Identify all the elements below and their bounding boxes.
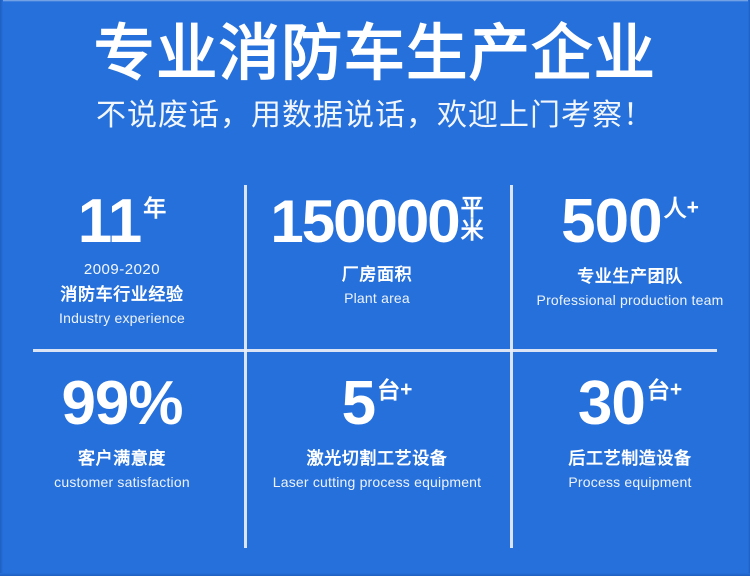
stat-unit-char-2: 米	[461, 219, 484, 242]
page-subtitle: 不说废话，用数据说话，欢迎上门考察！	[0, 99, 750, 134]
stat-unit: 台 +	[377, 375, 412, 402]
stat-number: 99%	[61, 375, 182, 434]
stat-label-en: Process equipment	[568, 474, 691, 490]
stat-unit: 台 +	[647, 375, 682, 402]
stat-label-cn: 厂房面积	[342, 260, 412, 285]
banner-header: 专业消防车生产企业 不说废话，用数据说话，欢迎上门考察！	[0, 22, 750, 134]
stat-unit-char-1: 平	[461, 196, 484, 219]
stat-cell-customer-satisfaction: 99% 客户满意度 customer satisfaction	[0, 349, 244, 548]
stat-label-cn: 激光切割工艺设备	[307, 444, 448, 469]
stat-label-en: customer satisfaction	[54, 474, 190, 490]
stat-unit-text: 年	[143, 197, 166, 220]
stat-label-cn: 消防车行业经验	[60, 280, 183, 305]
stat-number: 500	[561, 193, 661, 252]
stat-figure: 5 台 +	[342, 375, 413, 434]
stat-cell-production-team: 500 人 + 专业生产团队 Professional production t…	[510, 185, 750, 349]
stat-number: 30	[578, 375, 645, 434]
page-title: 专业消防车生产企业	[0, 22, 750, 85]
stat-cell-industry-experience: 11 年 2009-2020 消防车行业经验 Industry experien…	[0, 185, 244, 349]
stat-number: 150000	[270, 193, 458, 250]
stat-unit-plus: +	[687, 197, 699, 218]
stat-cell-laser-cutting: 5 台 + 激光切割工艺设备 Laser cutting process equ…	[244, 349, 510, 548]
stat-label-cn: 后工艺制造设备	[568, 444, 691, 469]
stat-unit-plus: +	[400, 379, 412, 400]
banner-edge-top	[0, 0, 750, 2]
stat-year-range: 2009-2020	[84, 261, 160, 278]
stat-figure: 500 人 +	[561, 193, 699, 252]
stat-figure: 30 台 +	[578, 375, 682, 434]
stat-unit-plus: +	[670, 379, 682, 400]
stat-unit: 平 米	[461, 193, 484, 243]
stat-unit-text: 人	[664, 197, 687, 220]
stat-figure: 150000 平 米	[270, 193, 483, 250]
stat-label-en: Plant area	[344, 290, 410, 306]
stat-figure: 11 年	[78, 193, 167, 252]
stat-label-cn: 专业生产团队	[577, 262, 683, 287]
stat-cell-process-equipment: 30 台 + 后工艺制造设备 Process equipment	[510, 349, 750, 548]
stat-label-en: Laser cutting process equipment	[273, 474, 482, 490]
stat-number: 5	[342, 375, 375, 434]
stat-label-en: Professional production team	[537, 292, 724, 308]
stat-unit: 年	[143, 193, 166, 220]
stat-unit-text: 台	[377, 379, 400, 402]
stat-number: 11	[78, 193, 142, 252]
stat-unit-text: 台	[647, 379, 670, 402]
stat-figure: 99%	[61, 375, 182, 434]
stat-cell-plant-area: 150000 平 米 厂房面积 Plant area	[244, 185, 510, 349]
stat-unit: 人 +	[664, 193, 699, 220]
stat-label-cn: 客户满意度	[78, 444, 166, 469]
stats-grid: 11 年 2009-2020 消防车行业经验 Industry experien…	[0, 185, 750, 548]
stat-label-en: Industry experience	[59, 310, 185, 326]
promo-banner: 专业消防车生产企业 不说废话，用数据说话，欢迎上门考察！ 11 年 2009-2…	[0, 0, 750, 576]
